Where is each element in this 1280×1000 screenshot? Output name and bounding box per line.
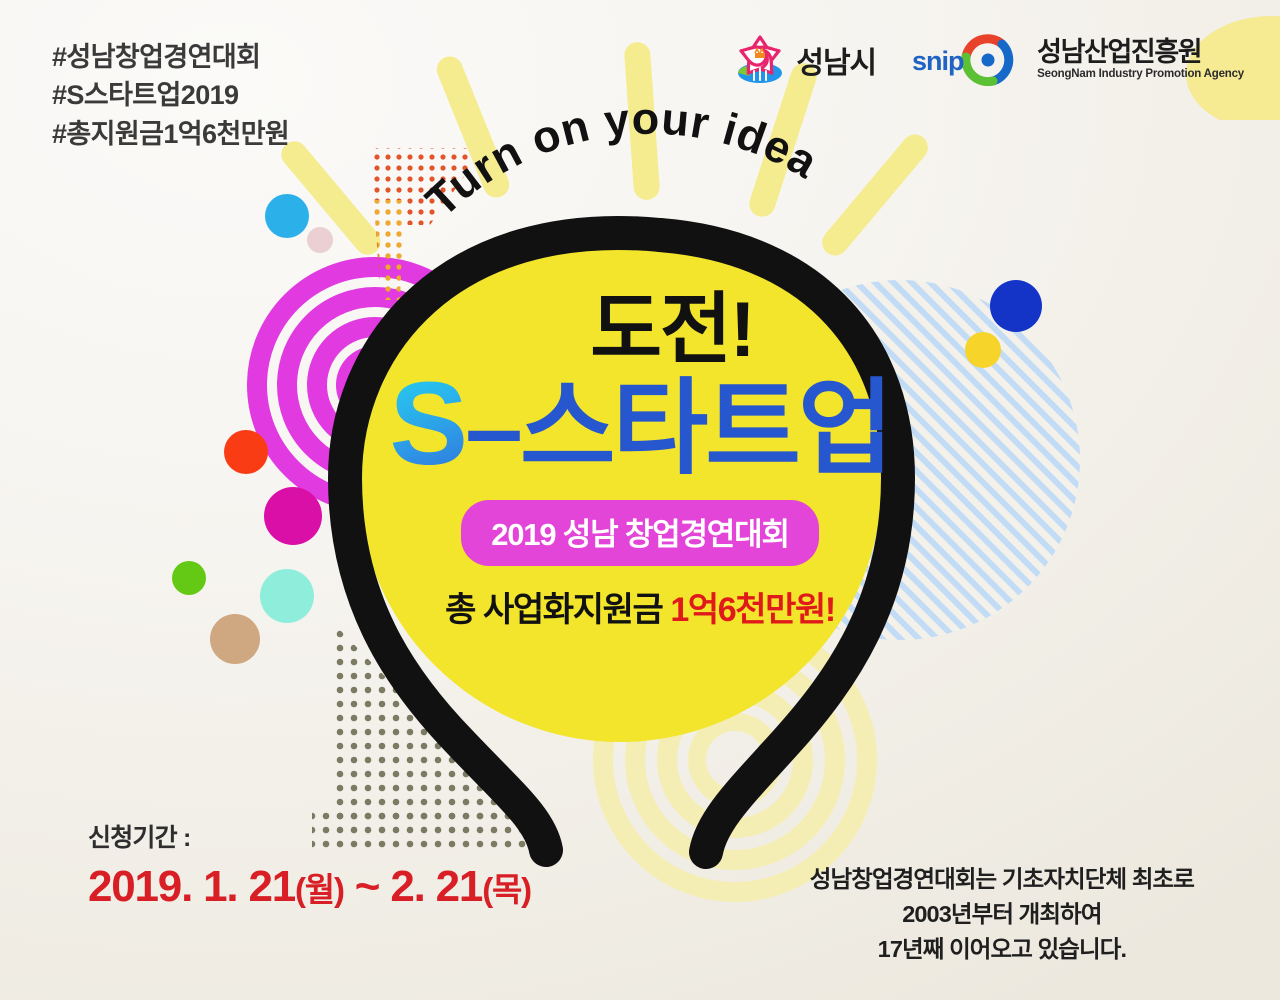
period-end-day: (목)	[482, 871, 531, 908]
snip-agency-logo: snip 성남산업진흥원 SeongNam Industry Promotion…	[910, 34, 1244, 86]
svg-text:Turn on your idea: Turn on your idea	[416, 93, 827, 227]
support-line: 총 사업화지원금 1억6천만원!	[330, 582, 950, 631]
headline-dojeon: 도전!	[394, 290, 950, 368]
description-line-3: 17년째 이어오고 있습니다.	[810, 932, 1194, 967]
brand-letter-s: S	[389, 358, 465, 490]
seongnam-flower-emblem-icon	[733, 35, 787, 85]
description-line-2: 2003년부터 개최하여	[810, 897, 1194, 932]
bulb-content-group: 도전! S–스타트업 2019 성남 창업경연대회 총 사업화지원금 1억6천만…	[330, 290, 950, 631]
description-line-1: 성남창업경연대회는 기초자치단체 최초로	[810, 862, 1194, 897]
seongnam-city-name: 성남시	[796, 38, 876, 82]
hashtag-item-2: #S스타트업2019	[52, 76, 289, 114]
period-start-date: 2019. 1. 21	[88, 862, 295, 911]
period-separator: ~	[355, 862, 380, 911]
competition-badge: 2019 성남 창업경연대회	[461, 500, 819, 566]
hashtag-list: #성남창업경연대회 #S스타트업2019 #총지원금1억6천만원	[52, 38, 289, 153]
snip-name-block: 성남산업진흥원 SeongNam Industry Promotion Agen…	[1037, 39, 1244, 81]
application-period: 신청기간 : 2019. 1. 21(월) ~ 2. 21(목)	[88, 818, 531, 912]
brand-lockup: S–스타트업	[330, 364, 950, 484]
hashtag-item-3: #총지원금1억6천만원	[52, 115, 289, 153]
snip-name-english: SeongNam Industry Promotion Agency	[1037, 69, 1244, 81]
badge-wrapper: 2019 성남 창업경연대회	[330, 484, 950, 566]
tagline-text: Turn on your idea	[416, 93, 827, 227]
poster-canvas: Turn on your idea #성남창업경연대회 #S스타트업2019 #…	[0, 0, 1280, 1000]
snip-name-korean: 성남산업진흥원	[1037, 39, 1244, 66]
snip-circle-logo-icon: snip	[910, 34, 1028, 86]
description-block: 성남창업경연대회는 기초자치단체 최초로 2003년부터 개최하여 17년째 이…	[810, 862, 1194, 966]
period-start-day: (월)	[295, 871, 344, 908]
svg-text:snip: snip	[912, 46, 964, 76]
brand-startup-word: 스타트업	[520, 371, 891, 487]
logo-bar: 성남시 snip 성남산업진흥원 SeongNam Industry Promo…	[733, 34, 1244, 86]
support-amount: 1억6천만원!	[670, 591, 834, 629]
period-dates: 2019. 1. 21(월) ~ 2. 21(목)	[88, 862, 531, 912]
period-end-date: 2. 21	[390, 862, 482, 911]
support-label: 총 사업화지원금	[445, 591, 662, 629]
brand-dash: –	[465, 371, 520, 487]
period-label: 신청기간 :	[88, 818, 531, 854]
hashtag-item-1: #성남창업경연대회	[52, 38, 289, 76]
seongnam-city-logo: 성남시	[733, 35, 876, 85]
